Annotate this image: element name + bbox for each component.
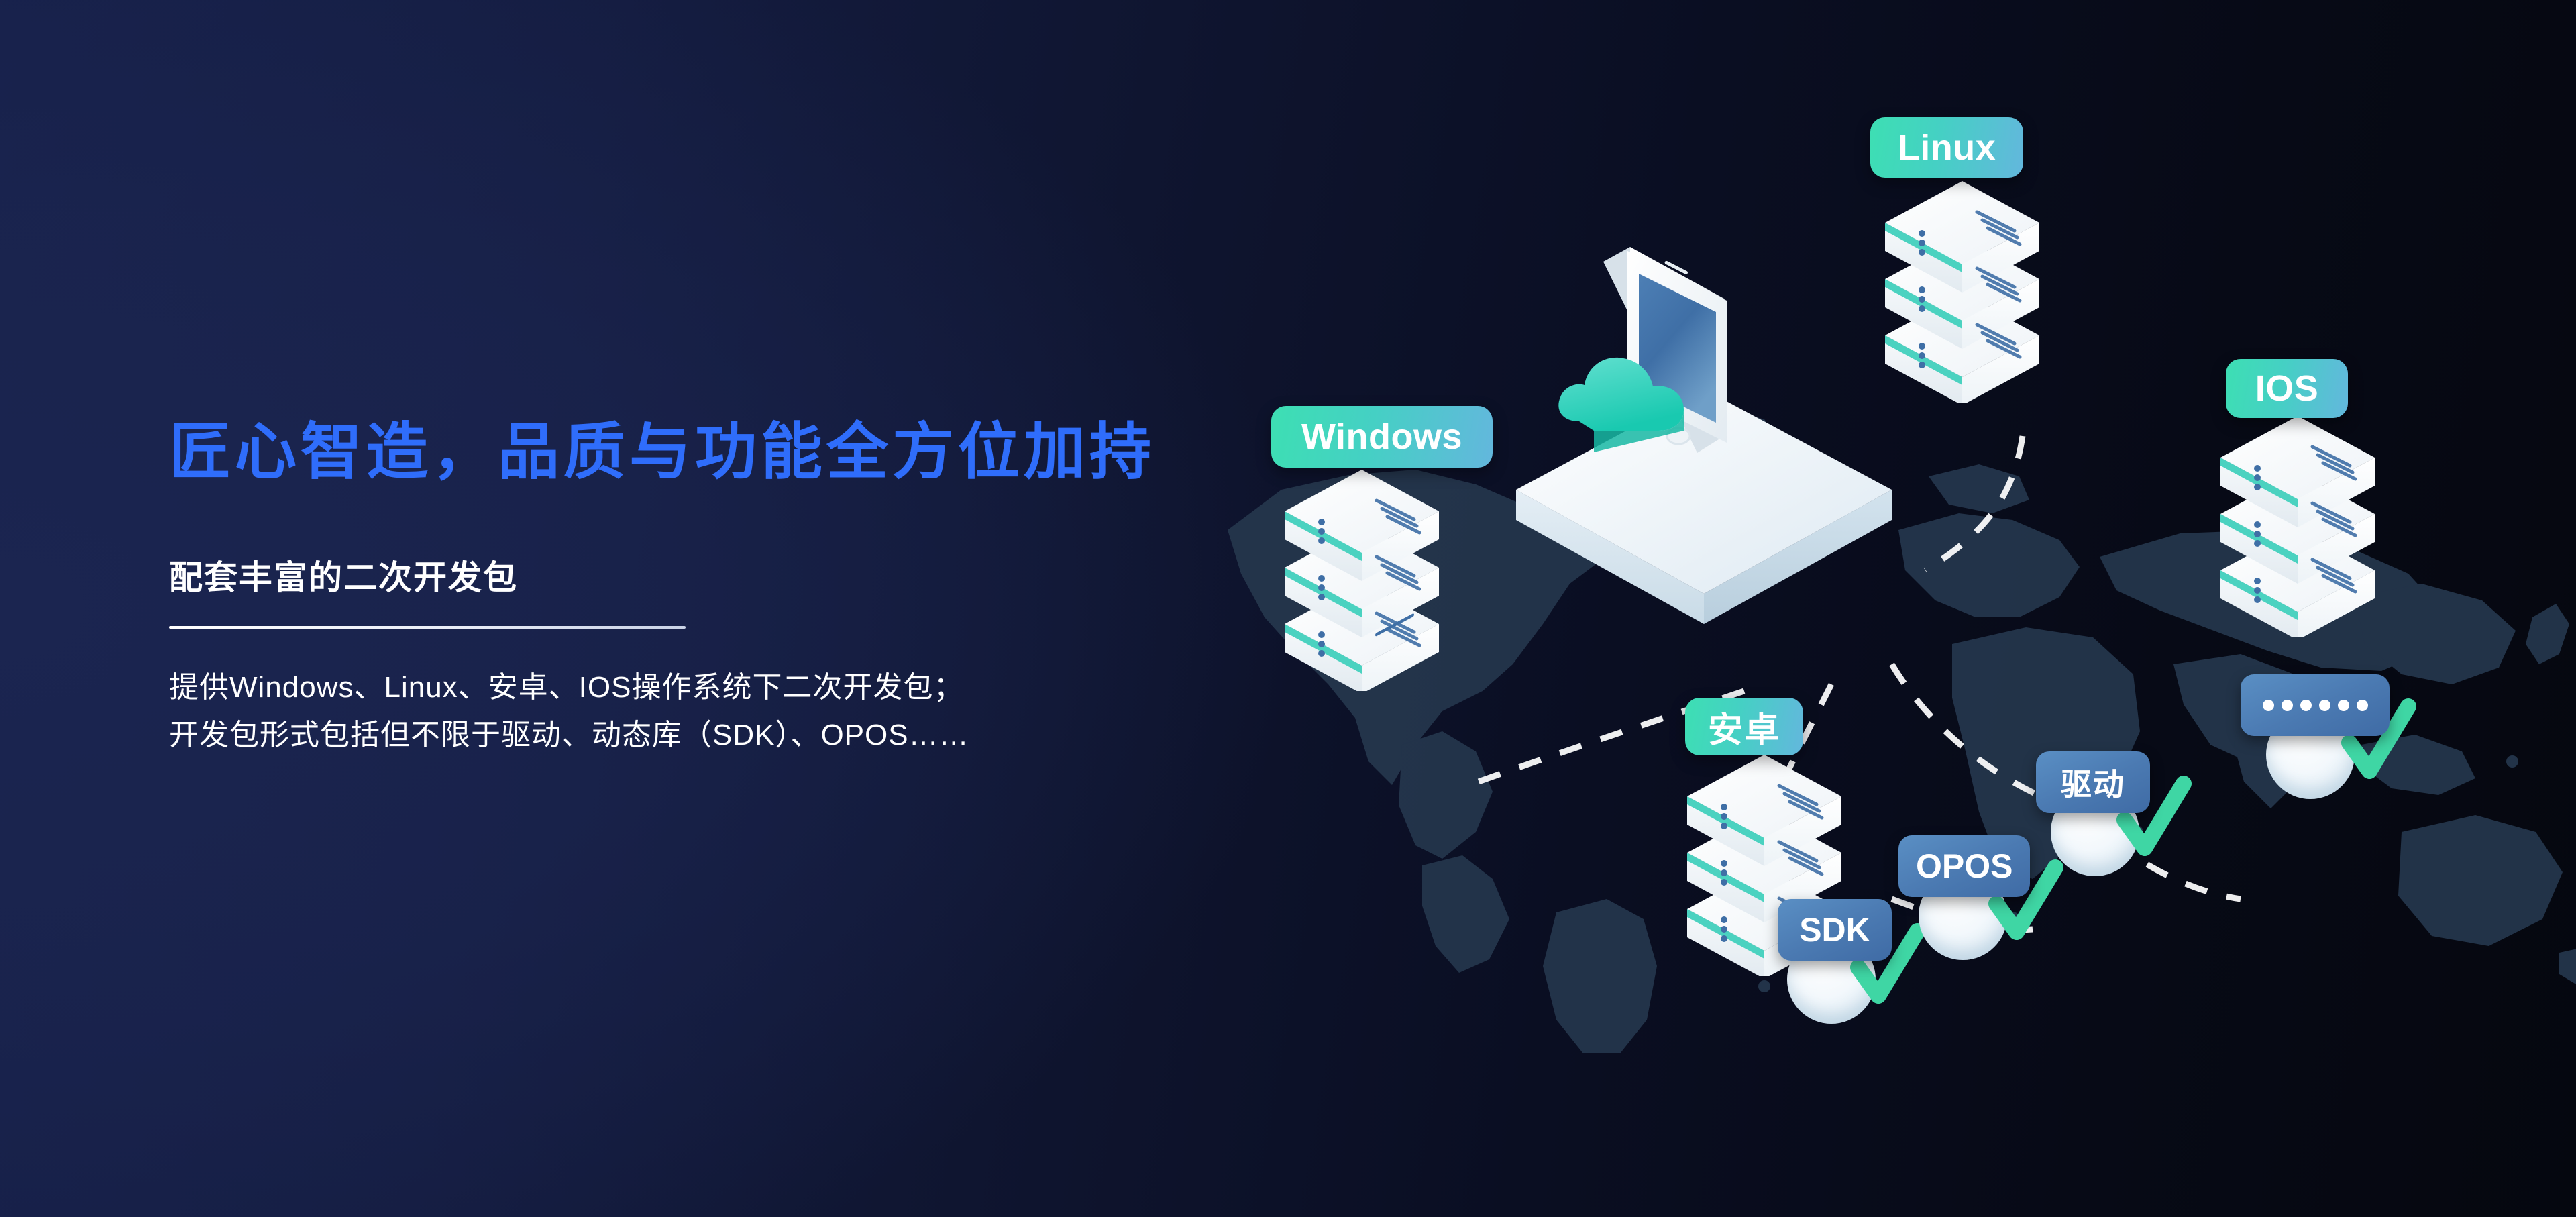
os-label-ios-text: IOS bbox=[2255, 368, 2319, 409]
platform-illustration: Windows Linux IOS 安卓 SDK bbox=[1301, 221, 2576, 1047]
page-title: 匠心智造，品质与功能全方位加持 bbox=[169, 416, 1350, 489]
sdk-label: SDK bbox=[1799, 910, 1870, 949]
body-line-2: 开发包形式包括但不限于驱动、动态库（SDK）、OPOS…… bbox=[169, 711, 1350, 759]
os-label-ios[interactable]: IOS bbox=[2226, 359, 2348, 418]
ellipsis-dots bbox=[2263, 700, 2368, 711]
driver-label: 驱动 bbox=[2061, 760, 2125, 804]
opos-label: OPOS bbox=[1916, 847, 2012, 886]
package-badge-more[interactable] bbox=[2241, 674, 2428, 808]
title-divider bbox=[169, 626, 686, 629]
opos-badge: OPOS bbox=[1898, 835, 2030, 897]
os-label-linux-text: Linux bbox=[1898, 127, 1996, 168]
os-label-windows-text: Windows bbox=[1301, 416, 1462, 458]
package-badge-driver[interactable]: 驱动 bbox=[2036, 751, 2204, 886]
smartphone-on-platform bbox=[1503, 221, 1919, 637]
sdk-badge: SDK bbox=[1778, 899, 1892, 961]
os-label-linux[interactable]: Linux bbox=[1870, 117, 2023, 178]
driver-badge: 驱动 bbox=[2036, 751, 2150, 813]
os-label-windows[interactable]: Windows bbox=[1271, 406, 1493, 468]
server-stack-ios bbox=[2210, 416, 2385, 637]
more-badge bbox=[2241, 674, 2390, 736]
hero-text-column: 匠心智造，品质与功能全方位加持 配套丰富的二次开发包 提供Windows、Lin… bbox=[169, 416, 1350, 759]
body-line-1: 提供Windows、Linux、安卓、IOS操作系统下二次开发包； bbox=[169, 664, 1350, 711]
section-subheading: 配套丰富的二次开发包 bbox=[169, 551, 1350, 599]
server-stack-windows bbox=[1275, 470, 1449, 691]
os-label-android[interactable]: 安卓 bbox=[1685, 698, 1803, 755]
os-label-android-text: 安卓 bbox=[1708, 702, 1780, 752]
hero-banner: 匠心智造，品质与功能全方位加持 配套丰富的二次开发包 提供Windows、Lin… bbox=[0, 0, 2576, 1217]
